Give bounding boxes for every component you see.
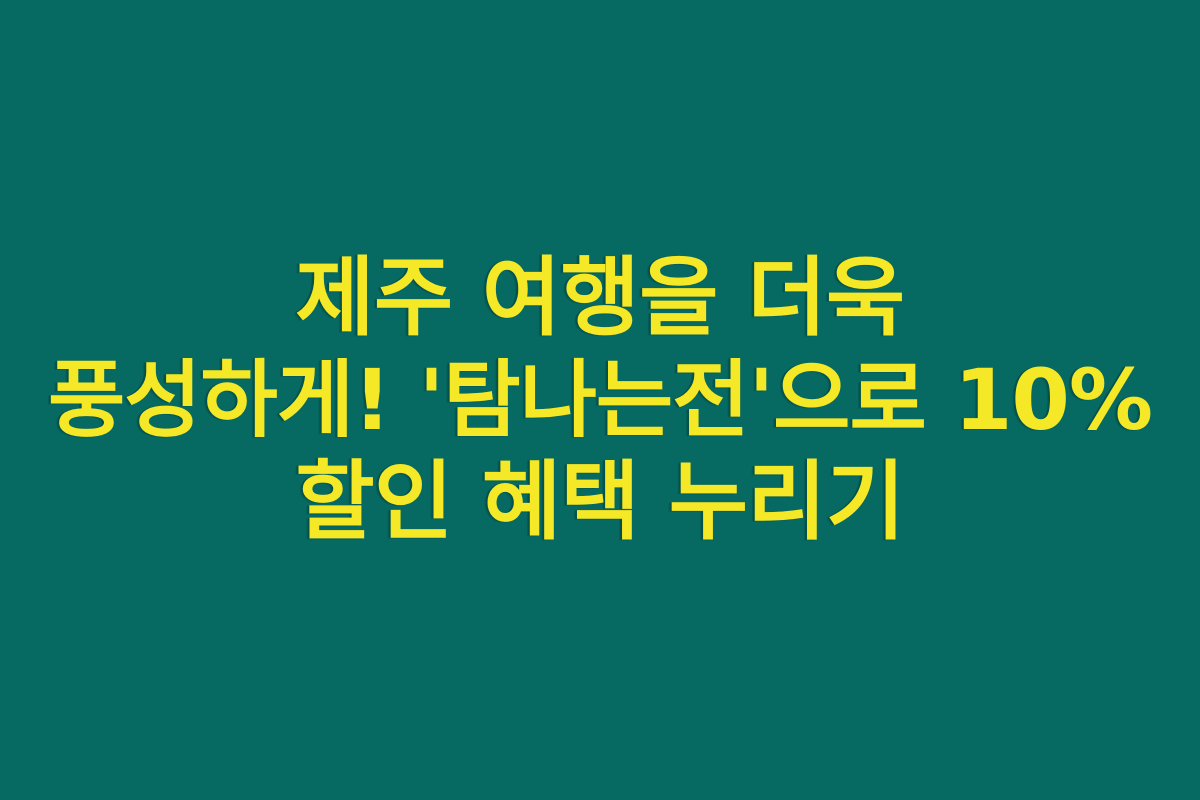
page-title: 제주 여행을 더욱 풍성하게! '탐나는전'으로 10% 할인 혜택 누리기 bbox=[0, 247, 1200, 553]
headline-line-2: 풍성하게! '탐나는전'으로 10% bbox=[8, 349, 1192, 451]
headline-line-1: 제주 여행을 더욱 bbox=[8, 247, 1192, 349]
headline-line-3: 할인 혜택 누리기 bbox=[8, 451, 1192, 553]
promo-banner: 제주 여행을 더욱 풍성하게! '탐나는전'으로 10% 할인 혜택 누리기 bbox=[0, 0, 1200, 800]
